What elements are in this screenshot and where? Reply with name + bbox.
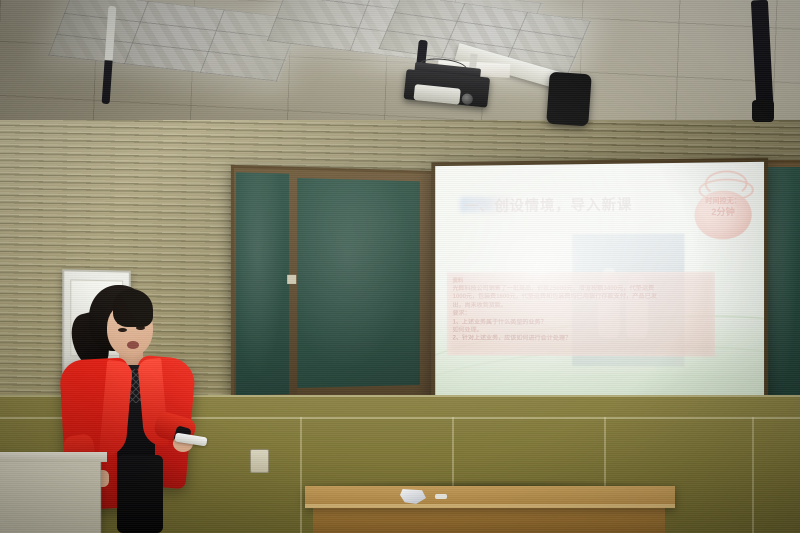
chalk-dust [236,172,289,395]
mouth [127,341,139,349]
teacher-desk[interactable] [305,486,675,533]
blackboard-left [231,165,434,409]
podium[interactable] [0,454,101,533]
slide-text-line: 出，尚未收到货款。 [453,302,709,311]
hair-fringe [113,289,153,327]
slide-text-line: 2、针对上述业务，应该如何进行会计处理？ [453,335,709,344]
slide-text-line: 1000元，包装费1600元，代垫运费和包装费均已用银行存款支付，产品已发 [453,293,709,301]
slide-text-line: 光辉科技公司销售了一批商品，价款25000元，增值税额3400元，代垫运费 [453,285,709,294]
chalk-dust [297,178,420,388]
desk-front-panel [313,506,665,533]
slide-text-line: 1、上述业务属于什么类型的业务？ [453,318,709,327]
classroom-photo: 时间控无： 2分钟 一、创设情境，导入新课 资料 光辉科技公司销售了一批商品，价… [0,0,800,533]
hanging-microphone-head-right [752,100,774,122]
slide-time-badge-text: 时间控无： 2分钟 [690,196,755,217]
slide-time-badge-value: 2分钟 [690,207,755,218]
chalkboard-panel-front [297,178,420,388]
board-slide-handle[interactable] [287,275,296,284]
slide-time-badge-label: 时间控无： [705,198,741,205]
eye [118,328,127,332]
wall-outlet[interactable] [250,449,269,473]
wainscot-seam [300,417,302,533]
wall-speaker [546,72,592,127]
wainscot-seam [752,417,754,533]
chalk-stick[interactable] [435,494,447,499]
desk-edge-highlight [305,504,675,508]
slide-textbox-label: 资料 [453,276,709,284]
slide-title: 一、创设情境，导入新课 [464,194,632,216]
black-trousers [117,455,163,533]
podium-top[interactable] [0,452,107,462]
chalkboard-panel-rear [236,172,289,395]
projector-lens-housing [413,84,460,105]
slide-time-badge: 时间控无： 2分钟 [690,168,755,241]
slide-textbox: 资料 光辉科技公司销售了一批商品，价款25000元，增值税额3400元，代垫运费… [447,272,715,357]
